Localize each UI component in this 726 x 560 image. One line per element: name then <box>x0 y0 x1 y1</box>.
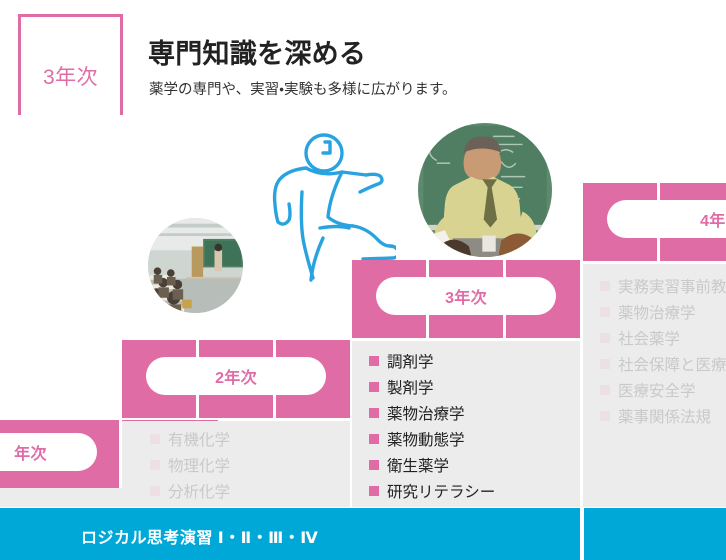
bullet-icon <box>369 382 379 392</box>
step-pill-year3-label: 3年次 <box>445 284 487 308</box>
bottom-course-bar-label: ロジカル思考演習 Ⅰ・Ⅱ・Ⅲ・Ⅳ <box>81 524 318 548</box>
bullet-icon <box>600 411 610 421</box>
photo-teacher-chalkboard <box>418 123 552 257</box>
bullet-icon <box>369 486 379 496</box>
bullet-icon <box>600 307 610 317</box>
bullet-icon <box>600 359 610 369</box>
course-item: 研究リテラシー <box>369 480 495 506</box>
course-list-year2: 有機化学 物理化学 分析化学 <box>150 428 230 506</box>
course-item: 分析化学 <box>150 480 230 506</box>
bullet-icon <box>600 385 610 395</box>
bullet-icon <box>150 486 160 496</box>
step-pill-year1-label: 年次 <box>14 440 47 464</box>
course-item: 衛生薬学 <box>369 454 495 480</box>
course-item: 医療安全学 <box>600 379 726 405</box>
step-pill-year3[interactable]: 3年次 <box>376 277 556 315</box>
course-item: 実務実習事前教 <box>600 275 726 301</box>
course-item: 社会保障と医療 <box>600 353 726 379</box>
course-item: 社会薬学 <box>600 327 726 353</box>
bullet-icon <box>369 434 379 444</box>
course-item: 有機化学 <box>150 428 230 454</box>
course-item: 調剤学 <box>369 350 495 376</box>
course-item: 薬物治療学 <box>600 301 726 327</box>
step-pill-year4[interactable]: 4年次 <box>607 200 726 238</box>
bullet-icon <box>369 408 379 418</box>
bottom-course-bar-right[interactable] <box>584 508 726 560</box>
bullet-icon <box>150 460 160 470</box>
photo-lecture-hall <box>148 218 243 313</box>
course-item: 薬事関係法規 <box>600 405 726 431</box>
page-subtitle: 薬学の専門や、実習・実験も多様に広がります。 <box>149 78 457 99</box>
bullet-icon <box>369 460 379 470</box>
course-list-year4: 実務実習事前教 薬物治療学 社会薬学 社会保障と医療 医療安全学 薬事関係法規 <box>600 275 726 431</box>
step-pill-year1[interactable]: 年次 <box>0 433 97 471</box>
current-year-badge-label: 3年次 <box>43 61 98 91</box>
bullet-icon <box>150 434 160 444</box>
course-item: 薬物動態学 <box>369 428 495 454</box>
bullet-icon <box>600 281 610 291</box>
bullet-icon <box>369 356 379 366</box>
current-year-badge: 3年次 <box>18 14 123 115</box>
course-list-year3: 調剤学 製剤学 薬物治療学 薬物動態学 衛生薬学 研究リテラシー <box>369 350 495 506</box>
page-title: 専門知識を深める <box>148 32 366 71</box>
course-item: 製剤学 <box>369 376 495 402</box>
curriculum-step-diagram: 3年次 専門知識を深める 薬学の専門や、実習・実験も多様に広がります。 <box>0 0 726 560</box>
course-item: 物理化学 <box>150 454 230 480</box>
step-pill-year2[interactable]: 2年次 <box>146 357 326 395</box>
course-item: 薬物治療学 <box>369 402 495 428</box>
step-pill-year2-label: 2年次 <box>215 364 257 388</box>
step-pill-year4-label: 4年次 <box>700 207 726 231</box>
bullet-icon <box>600 333 610 343</box>
